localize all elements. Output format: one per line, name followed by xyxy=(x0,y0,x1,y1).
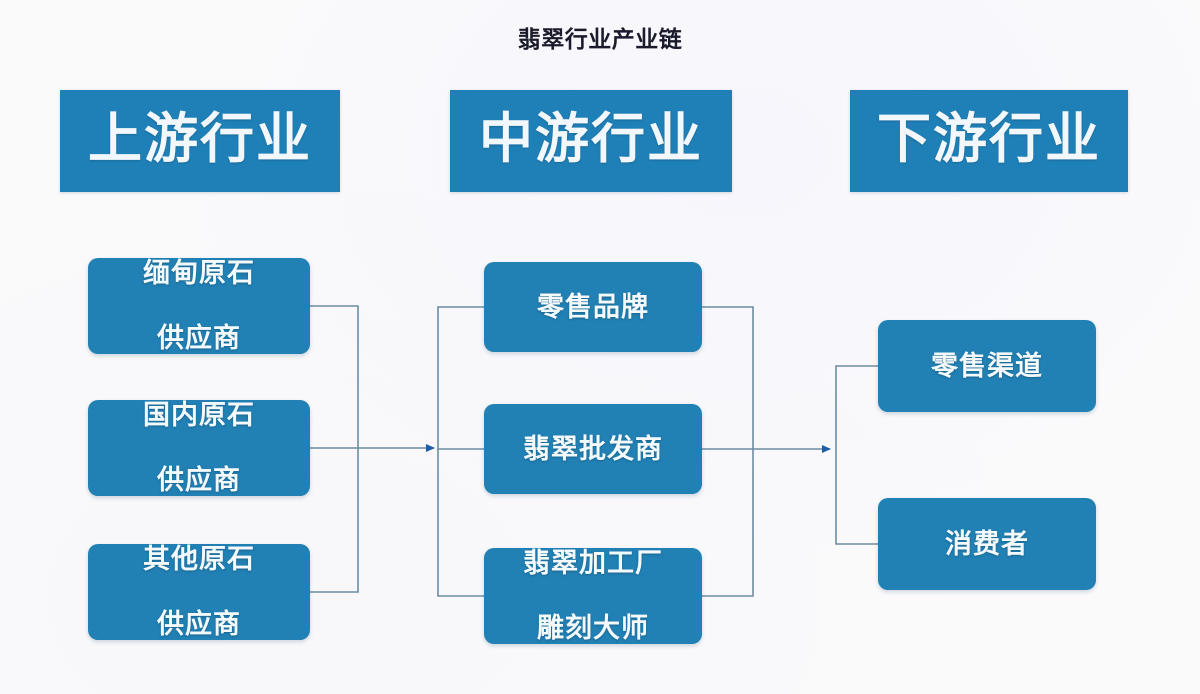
node-consumer: 消费者 xyxy=(878,498,1096,590)
node-label-line2: 供应商 xyxy=(135,608,263,641)
upstream-collector xyxy=(310,306,358,592)
node-label-line2: 供应商 xyxy=(135,322,263,355)
node-retail-channel: 零售渠道 xyxy=(878,320,1096,412)
stage-header-upstream-label: 上游行业 xyxy=(88,112,312,166)
node-jade-processing-factory-carving-master: 翡翠加工厂雕刻大师 xyxy=(484,548,702,644)
midstream-distributor xyxy=(438,307,484,596)
node-retail-brand: 零售品牌 xyxy=(484,262,702,352)
node-label: 其他原石供应商 xyxy=(127,543,271,642)
stage-header-midstream: 中游行业 xyxy=(450,90,732,192)
diagram-canvas: 翡翠行业产业链 上游行业 中游行业 下游行业 xyxy=(0,0,1200,694)
stage-header-downstream: 下游行业 xyxy=(850,90,1128,192)
node-label-line1: 翡翠加工厂 xyxy=(515,547,671,580)
node-domestic-rough-stone-supplier: 国内原石供应商 xyxy=(88,400,310,496)
node-label: 翡翠加工厂雕刻大师 xyxy=(507,547,679,646)
node-label-line2: 供应商 xyxy=(135,464,263,497)
node-label-line2: 雕刻大师 xyxy=(515,612,671,645)
node-myanmar-rough-stone-supplier: 缅甸原石供应商 xyxy=(88,258,310,354)
node-label: 翡翠批发商 xyxy=(515,433,671,466)
downstream-distributor xyxy=(836,366,878,544)
node-label-line1: 缅甸原石 xyxy=(135,257,263,290)
midstream-collector xyxy=(702,307,753,596)
stage-header-downstream-label: 下游行业 xyxy=(877,112,1101,166)
node-label: 零售品牌 xyxy=(529,291,657,324)
diagram-title: 翡翠行业产业链 xyxy=(0,28,1200,51)
node-label: 缅甸原石供应商 xyxy=(127,257,271,356)
node-label: 消费者 xyxy=(937,528,1037,561)
node-label-line1: 国内原石 xyxy=(135,399,263,432)
node-label: 国内原石供应商 xyxy=(127,399,271,498)
node-other-rough-stone-supplier: 其他原石供应商 xyxy=(88,544,310,640)
node-jade-wholesaler: 翡翠批发商 xyxy=(484,404,702,494)
stage-header-midstream-label: 中游行业 xyxy=(479,112,703,166)
stage-header-upstream: 上游行业 xyxy=(60,90,340,192)
node-label-line1: 其他原石 xyxy=(135,543,263,576)
node-label: 零售渠道 xyxy=(923,350,1051,383)
